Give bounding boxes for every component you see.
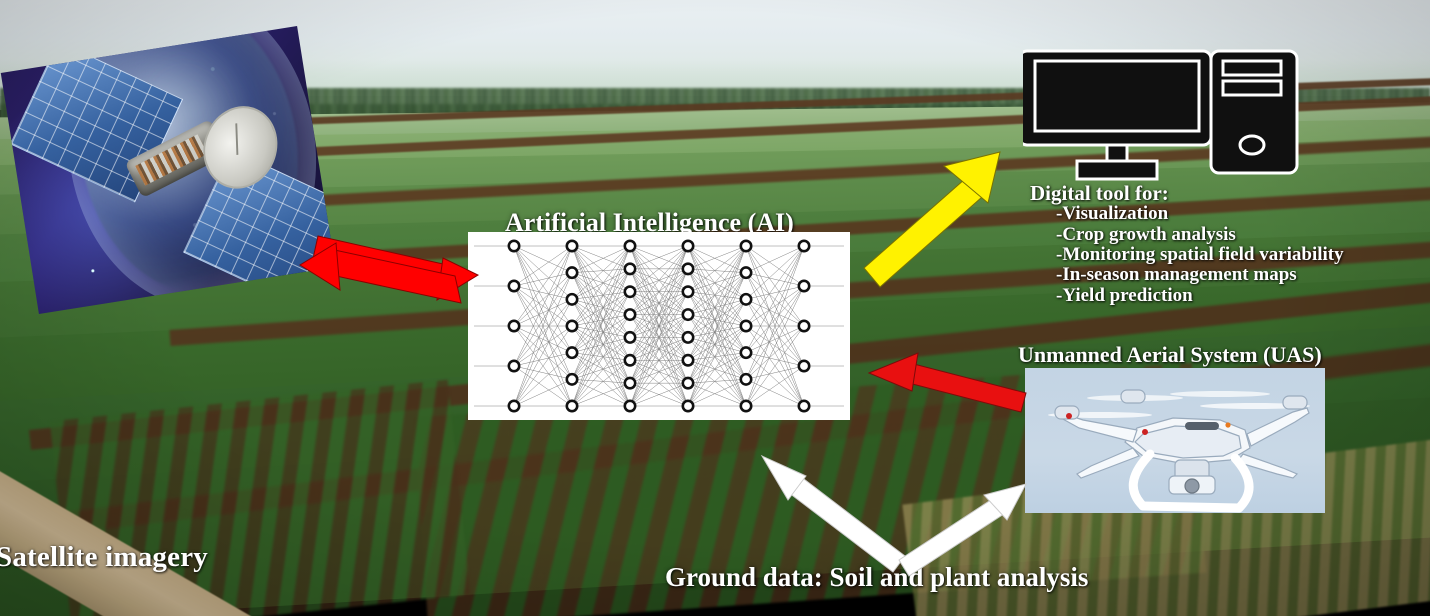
digital-tool-text-block: Digital tool for: -Visualization -Crop g…	[1030, 182, 1344, 306]
list-item: -Yield prediction	[1056, 286, 1344, 306]
satellite-image-card	[1, 26, 335, 314]
figure-canvas: Satellite imagery Artificial Intelligenc…	[0, 0, 1430, 616]
list-item: -Crop growth analysis	[1056, 225, 1344, 245]
drone-icon	[1025, 368, 1325, 513]
list-item: -Visualization	[1056, 204, 1344, 224]
neural-network-icon	[468, 232, 850, 420]
digital-tool-heading: Digital tool for:	[1030, 182, 1344, 204]
digital-tool-list: -Visualization -Crop growth analysis -Mo…	[1030, 204, 1344, 306]
ground-data-label: Ground data: Soil and plant analysis	[665, 562, 1088, 593]
desktop-computer-icon	[1023, 45, 1301, 185]
list-item: -In-season management maps	[1056, 265, 1344, 285]
list-item: -Monitoring spatial field variability	[1056, 245, 1344, 265]
uas-title: Unmanned Aerial System (UAS)	[1018, 342, 1322, 368]
satellite-icon	[1, 26, 335, 314]
satellite-imagery-label: Satellite imagery	[0, 541, 286, 574]
